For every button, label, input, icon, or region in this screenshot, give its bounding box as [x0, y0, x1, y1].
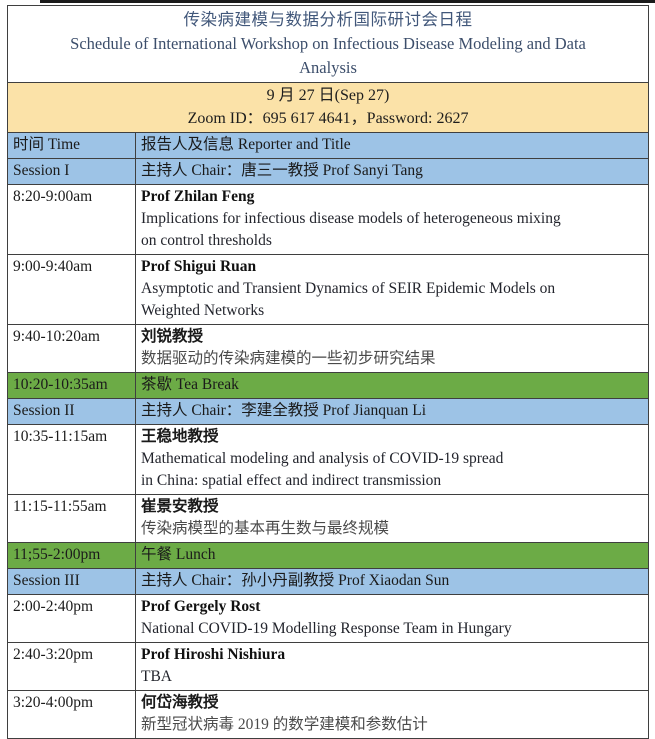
- talk-time-cell: 2:40-3:20pm: [8, 643, 136, 691]
- date-text: 9 月 27 日(Sep 27): [13, 84, 643, 107]
- talk-detail-cell: Prof Shigui RuanAsymptotic and Transient…: [136, 255, 649, 325]
- break-time-label: 10:20-10:35am: [13, 376, 108, 393]
- date-row: 9 月 27 日(Sep 27) Zoom ID：695 617 4641，Pa…: [8, 83, 649, 133]
- column-header-time-label: 时间 Time: [13, 136, 80, 153]
- column-header-body-cell: 报告人及信息 Reporter and Title: [136, 133, 649, 159]
- talk-row: 9:00-9:40amProf Shigui RuanAsymptotic an…: [8, 255, 649, 325]
- zoom-meeting-info: Zoom ID：695 617 4641，Password: 2627: [13, 107, 643, 130]
- talk-title-line1: Mathematical modeling and analysis of CO…: [141, 448, 643, 470]
- break-time-cell: 11;55-2:00pm: [8, 543, 136, 569]
- talk-time-label: 3:20-4:00pm: [13, 694, 93, 711]
- break-label-cell: 午餐 Lunch: [136, 543, 649, 569]
- title-chinese: 传染病建模与数据分析国际研讨会日程: [13, 7, 643, 32]
- talk-title-line1: National COVID-19 Modelling Response Tea…: [141, 618, 643, 640]
- talk-title-line1: 传染病模型的基本再生数与最终规模: [141, 518, 643, 540]
- talk-time-cell: 3:20-4:00pm: [8, 691, 136, 739]
- talk-title-line1: 新型冠状病毒 2019 的数学建模和参数估计: [141, 714, 643, 736]
- talk-time-cell: 2:00-2:40pm: [8, 595, 136, 643]
- talk-speaker-name: 何岱海教授: [141, 692, 643, 714]
- session-chair-cell: 主持人 Chair：唐三一教授 Prof Sanyi Tang: [136, 159, 649, 185]
- session-chair-cell: 主持人 Chair：李建全教授 Prof Jianquan Li: [136, 399, 649, 425]
- talk-detail-cell: Prof Zhilan FengImplications for infecti…: [136, 185, 649, 255]
- session-chair-text: 主持人 Chair：唐三一教授 Prof Sanyi Tang: [141, 162, 423, 179]
- talk-row: 9:40-10:20am刘锐教授数据驱动的传染病建模的一些初步研究结果: [8, 325, 649, 373]
- talk-speaker-name: Prof Gergely Rost: [141, 596, 643, 618]
- title-english-line2: Analysis: [13, 56, 643, 80]
- talk-row: 11:15-11:55am崔景安教授传染病模型的基本再生数与最终规模: [8, 495, 649, 543]
- talk-time-label: 8:20-9:00am: [13, 188, 92, 205]
- column-header-body-label: 报告人及信息 Reporter and Title: [141, 136, 351, 153]
- title-cell: 传染病建模与数据分析国际研讨会日程 Schedule of Internatio…: [8, 6, 649, 83]
- talk-time-cell: 9:40-10:20am: [8, 325, 136, 373]
- session-chair-cell: 主持人 Chair：孙小丹副教授 Prof Xiaodan Sun: [136, 569, 649, 595]
- talk-speaker-name: 刘锐教授: [141, 326, 643, 348]
- date-cell: 9 月 27 日(Sep 27) Zoom ID：695 617 4641，Pa…: [8, 83, 649, 133]
- talk-speaker-name: Prof Hiroshi Nishiura: [141, 644, 643, 666]
- session-label: Session III: [13, 572, 80, 589]
- session-header-row: Session III主持人 Chair：孙小丹副教授 Prof Xiaodan…: [8, 569, 649, 595]
- break-time-label: 11;55-2:00pm: [13, 546, 100, 563]
- talk-time-label: 2:40-3:20pm: [13, 646, 93, 663]
- talk-speaker-name: Prof Shigui Ruan: [141, 256, 643, 278]
- talk-row: 10:35-11:15am王稳地教授Mathematical modeling …: [8, 425, 649, 495]
- talk-row: 2:40-3:20pmProf Hiroshi NishiuraTBA: [8, 643, 649, 691]
- talk-detail-cell: 崔景安教授传染病模型的基本再生数与最终规模: [136, 495, 649, 543]
- talk-time-cell: 8:20-9:00am: [8, 185, 136, 255]
- talk-title-line1: TBA: [141, 666, 643, 688]
- talk-time-cell: 9:00-9:40am: [8, 255, 136, 325]
- talk-time-cell: 10:35-11:15am: [8, 425, 136, 495]
- break-time-cell: 10:20-10:35am: [8, 373, 136, 399]
- break-label-cell: 茶歇 Tea Break: [136, 373, 649, 399]
- session-label-cell: Session III: [8, 569, 136, 595]
- column-header-row: 时间 Time 报告人及信息 Reporter and Title: [8, 133, 649, 159]
- session-header-row: Session II主持人 Chair：李建全教授 Prof Jianquan …: [8, 399, 649, 425]
- talk-time-label: 9:40-10:20am: [13, 328, 100, 345]
- schedule-table: 传染病建模与数据分析国际研讨会日程 Schedule of Internatio…: [7, 5, 649, 739]
- session-header-row: Session I主持人 Chair：唐三一教授 Prof Sanyi Tang: [8, 159, 649, 185]
- title-english-line1: Schedule of International Workshop on In…: [13, 32, 643, 56]
- schedule-table-body: 传染病建模与数据分析国际研讨会日程 Schedule of Internatio…: [8, 6, 649, 739]
- talk-speaker-name: 崔景安教授: [141, 496, 643, 518]
- break-label: 午餐 Lunch: [141, 546, 215, 563]
- talk-speaker-name: 王稳地教授: [141, 426, 643, 448]
- talk-row: 8:20-9:00amProf Zhilan FengImplications …: [8, 185, 649, 255]
- talk-row: 3:20-4:00pm何岱海教授新型冠状病毒 2019 的数学建模和参数估计: [8, 691, 649, 739]
- session-chair-text: 主持人 Chair：孙小丹副教授 Prof Xiaodan Sun: [141, 572, 449, 589]
- talk-detail-cell: 王稳地教授Mathematical modeling and analysis …: [136, 425, 649, 495]
- title-row: 传染病建模与数据分析国际研讨会日程 Schedule of Internatio…: [8, 6, 649, 83]
- talk-time-label: 11:15-11:55am: [13, 498, 107, 515]
- break-row: 10:20-10:35am茶歇 Tea Break: [8, 373, 649, 399]
- talk-time-cell: 11:15-11:55am: [8, 495, 136, 543]
- talk-title-line1: Implications for infectious disease mode…: [141, 208, 643, 230]
- talk-title-line2: on control thresholds: [141, 230, 643, 252]
- talk-title-line2: Weighted Networks: [141, 300, 643, 322]
- talk-detail-cell: 何岱海教授新型冠状病毒 2019 的数学建模和参数估计: [136, 691, 649, 739]
- talk-time-label: 9:00-9:40am: [13, 258, 92, 275]
- break-row: 11;55-2:00pm午餐 Lunch: [8, 543, 649, 569]
- talk-speaker-name: Prof Zhilan Feng: [141, 186, 643, 208]
- top-edge-strip: [40, 0, 655, 3]
- break-label: 茶歇 Tea Break: [141, 376, 239, 393]
- session-label: Session II: [13, 402, 75, 419]
- talk-detail-cell: Prof Hiroshi NishiuraTBA: [136, 643, 649, 691]
- talk-time-label: 10:35-11:15am: [13, 428, 107, 445]
- talk-detail-cell: 刘锐教授数据驱动的传染病建模的一些初步研究结果: [136, 325, 649, 373]
- session-label-cell: Session II: [8, 399, 136, 425]
- talk-row: 2:00-2:40pmProf Gergely RostNational COV…: [8, 595, 649, 643]
- talk-time-label: 2:00-2:40pm: [13, 598, 93, 615]
- session-label-cell: Session I: [8, 159, 136, 185]
- talk-title-line1: Asymptotic and Transient Dynamics of SEI…: [141, 278, 643, 300]
- session-chair-text: 主持人 Chair：李建全教授 Prof Jianquan Li: [141, 402, 426, 419]
- column-header-time-cell: 时间 Time: [8, 133, 136, 159]
- talk-title-line1: 数据驱动的传染病建模的一些初步研究结果: [141, 348, 643, 370]
- schedule-page: 传染病建模与数据分析国际研讨会日程 Schedule of Internatio…: [0, 0, 655, 730]
- session-label: Session I: [13, 162, 69, 179]
- talk-title-line2: in China: spatial effect and indirect tr…: [141, 470, 643, 492]
- talk-detail-cell: Prof Gergely RostNational COVID-19 Model…: [136, 595, 649, 643]
